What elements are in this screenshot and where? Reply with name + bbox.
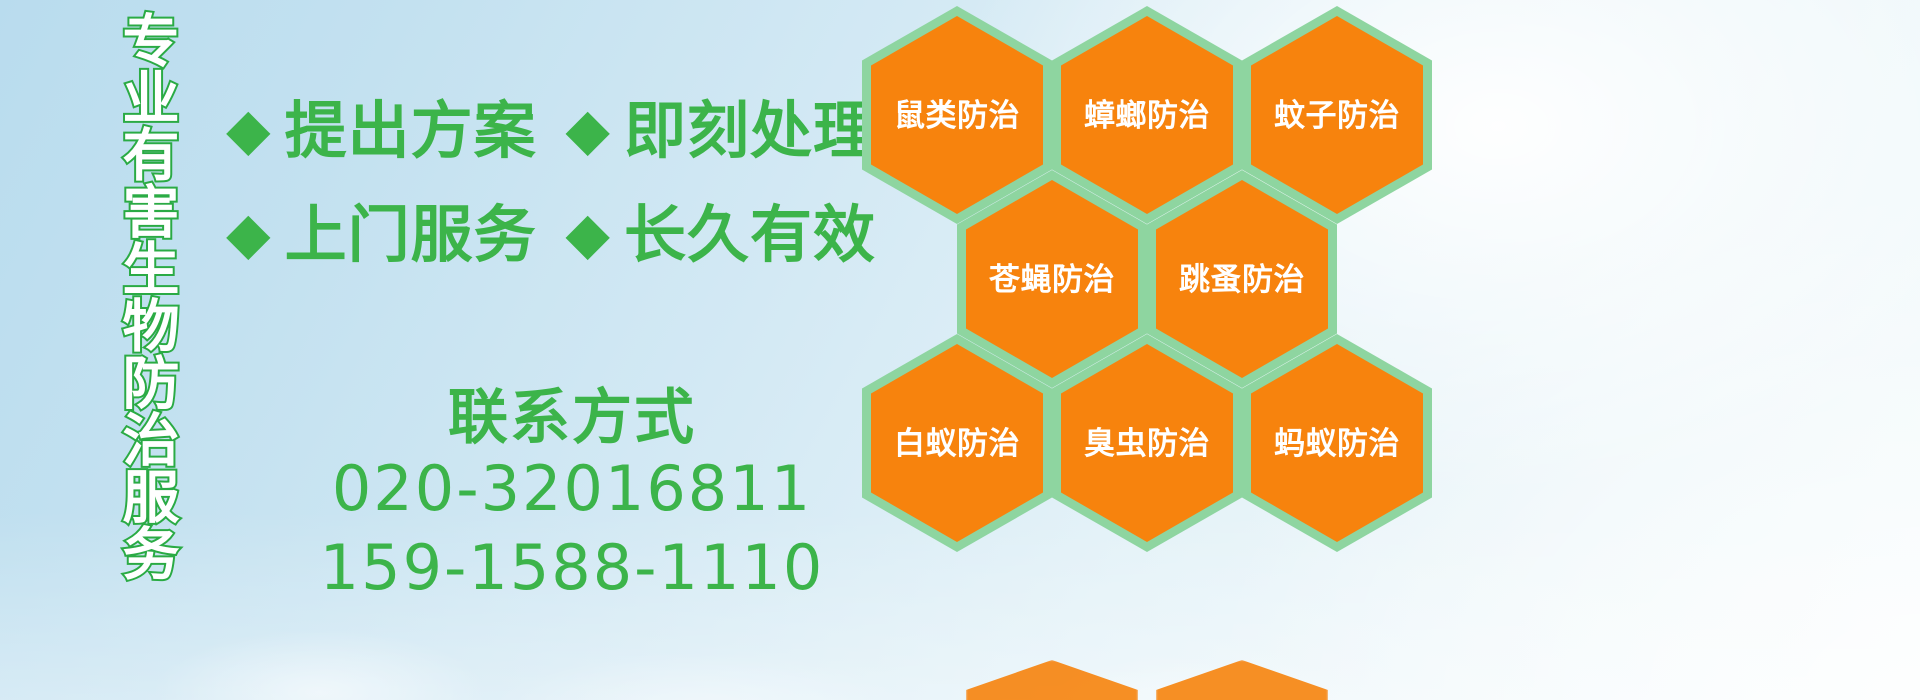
hex-label-termite-control: 白蚁防治 [894, 428, 1020, 459]
honeycomb-bottom-edge [862, 660, 1462, 700]
diamond-bullet-icon: ◆ [565, 101, 610, 159]
vertical-slogan-char-7: 防 [123, 356, 180, 413]
hex-label-bedbug-control: 臭虫防治 [1084, 428, 1210, 459]
pest-control-banner: 专 业 有 害 生 物 防 治 服 务 ◆ 提出方案 ◆ 即刻处理 ◆ 上门服务… [0, 0, 1920, 700]
vertical-slogan-char-1: 专 [123, 14, 180, 71]
diamond-bullet-icon: ◆ [226, 101, 271, 159]
vertical-slogan-char-6: 物 [123, 299, 180, 356]
vertical-slogan-char-3: 有 [123, 128, 180, 185]
hex-label-fly-control: 苍蝇防治 [989, 264, 1115, 295]
diamond-bullet-icon: ◆ [226, 205, 271, 263]
feature-label-propose-plan: 提出方案 [285, 101, 537, 163]
hex-label-flea-control: 跳蚤防治 [1179, 264, 1305, 295]
feature-label-onsite-service: 上门服务 [285, 205, 537, 267]
hex-label-rodent-control: 鼠类防治 [894, 100, 1020, 131]
service-honeycomb: 鼠类防治 蟑螂防治 蚊子防治 苍蝇防治 跳蚤防治 白蚁防治 臭虫防治 蚂蚁 [862, 0, 1462, 560]
vertical-slogan-char-4: 害 [123, 185, 180, 242]
vertical-slogan: 专 业 有 害 生 物 防 治 服 务 [112, 14, 190, 554]
feature-list: ◆ 提出方案 ◆ 即刻处理 ◆ 上门服务 ◆ 长久有效 [226, 80, 876, 288]
vertical-slogan-char-10: 务 [123, 527, 180, 584]
contact-block: 联系方式 020-32016811 159-1588-1110 [252, 386, 892, 608]
feature-row-1: ◆ 提出方案 ◆ 即刻处理 [226, 80, 876, 184]
phone-landline[interactable]: 020-32016811 [252, 449, 892, 528]
feature-label-immediate-handling: 即刻处理 [624, 101, 876, 163]
hex-label-ant-control: 蚂蚁防治 [1274, 428, 1400, 459]
feature-row-2: ◆ 上门服务 ◆ 长久有效 [226, 184, 876, 288]
hex-label-mosquito-control: 蚊子防治 [1274, 100, 1400, 131]
phone-mobile[interactable]: 159-1588-1110 [252, 528, 892, 607]
hexagon-shape-partial [1156, 660, 1328, 700]
vertical-slogan-char-2: 业 [123, 71, 180, 128]
vertical-slogan-char-9: 服 [123, 470, 180, 527]
vertical-slogan-char-8: 治 [123, 413, 180, 470]
vertical-slogan-char-5: 生 [123, 242, 180, 299]
diamond-bullet-icon: ◆ [565, 205, 610, 263]
hex-label-cockroach-control: 蟑螂防治 [1084, 100, 1210, 131]
hexagon-shape-partial [966, 660, 1138, 700]
feature-label-long-lasting: 长久有效 [624, 205, 876, 267]
contact-title: 联系方式 [252, 386, 892, 449]
